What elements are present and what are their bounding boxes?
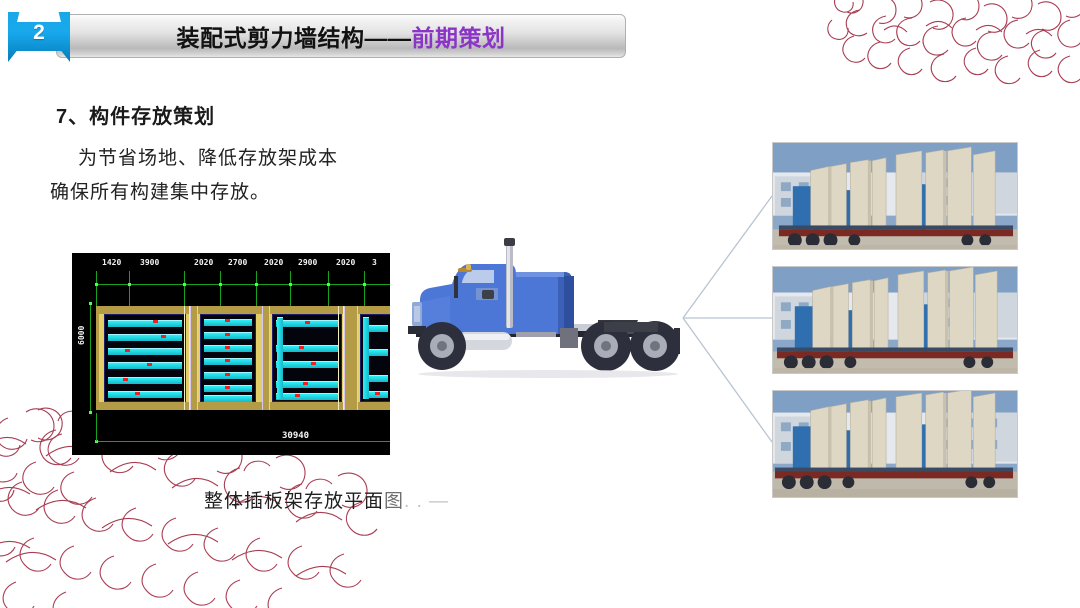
paragraph-line-1: 为节省场地、降低存放架成本 xyxy=(78,148,338,169)
slide-header: 装配式剪力墙结构——前期策划 2 xyxy=(0,14,626,58)
cad-dim-node xyxy=(289,283,292,286)
connector-line-top xyxy=(683,196,772,318)
page-title: 装配式剪力墙结构——前期策划 xyxy=(56,14,626,58)
cad-storage-bay xyxy=(360,314,390,402)
cad-rack xyxy=(108,391,182,398)
cad-marker xyxy=(305,321,310,324)
cad-total-dimension: 30940 xyxy=(282,431,309,441)
figure-caption-fade: 图 xyxy=(384,491,404,512)
cad-rack-vertical xyxy=(277,317,283,399)
cad-dim-label: 2700 xyxy=(228,258,247,267)
cad-dim-node xyxy=(95,283,98,286)
cad-rack xyxy=(108,348,182,355)
content-heading: 7、构件存放策划 xyxy=(56,100,215,129)
cad-dim-node xyxy=(219,283,222,286)
paragraph-line-2: 确保所有构建集中存放。 xyxy=(50,182,270,203)
cad-dim-label: 2020 xyxy=(194,258,213,267)
cad-top-dimension-row: 1420 3900 2020 2700 2020 2900 2020 3 xyxy=(72,253,390,287)
cad-marker xyxy=(147,363,152,366)
cad-vert-dim-line xyxy=(90,303,91,413)
figure-caption: 整体插板架存放平面图. . — xyxy=(204,486,449,513)
cad-rack xyxy=(108,320,182,327)
cad-ext-line xyxy=(220,271,221,307)
cad-rack xyxy=(204,395,252,402)
cad-dim-line xyxy=(96,284,390,285)
cad-rack xyxy=(276,345,338,352)
cad-dim-node xyxy=(183,283,186,286)
cad-marker xyxy=(311,362,316,365)
figure-caption-text: 整体插板架存放平面 xyxy=(204,491,384,512)
semi-truck-tractor-illustration xyxy=(398,228,688,383)
cad-rack xyxy=(276,393,338,400)
cad-marker xyxy=(225,346,230,349)
cad-column xyxy=(344,306,358,410)
cad-ext-line xyxy=(96,413,97,441)
cad-marker xyxy=(225,333,230,336)
cloud-decoration-top-right xyxy=(826,0,1080,140)
cad-column-edge xyxy=(338,306,344,410)
photo-precast-panels-3 xyxy=(772,390,1018,498)
cad-ext-line xyxy=(256,271,257,307)
cad-ext-line xyxy=(184,271,185,307)
cad-dim-node xyxy=(255,283,258,286)
cad-storage-bay xyxy=(104,314,186,402)
cad-rack xyxy=(108,334,182,341)
cad-marker xyxy=(299,346,304,349)
cad-marker xyxy=(225,386,230,389)
cad-dim-node xyxy=(327,283,330,286)
cad-dim-label: 2900 xyxy=(298,258,317,267)
section-badge-number: 2 xyxy=(8,12,70,62)
cad-vertical-dimension: 6000 xyxy=(77,326,86,345)
cad-floor-plan-image: 1420 3900 2020 2700 2020 2900 2020 3 600… xyxy=(72,253,390,455)
cad-dim-node xyxy=(89,411,92,414)
page-title-accent: 前期策划 xyxy=(412,19,506,53)
cad-dim-label: 2020 xyxy=(336,258,355,267)
cad-rack xyxy=(108,377,182,384)
cad-column xyxy=(190,306,198,410)
connector-line-bottom xyxy=(683,318,772,442)
cad-column xyxy=(262,306,270,410)
photo-precast-panels-1 xyxy=(772,142,1018,250)
cad-storage-bay xyxy=(272,314,342,402)
cad-ext-line xyxy=(129,271,130,307)
cad-storage-bay xyxy=(200,314,256,402)
cad-rack-vertical xyxy=(363,317,369,399)
cad-marker xyxy=(375,392,380,395)
cad-marker xyxy=(225,373,230,376)
cad-ext-line xyxy=(96,271,97,307)
cad-column-edge xyxy=(184,306,190,410)
cad-dim-node xyxy=(89,302,92,305)
cad-marker xyxy=(225,319,230,322)
cad-dim-label: 2020 xyxy=(264,258,283,267)
cad-ext-line xyxy=(290,271,291,307)
page-title-main: 装配式剪力墙结构—— xyxy=(177,19,412,53)
content-paragraph: 为节省场地、降低存放架成本 确保所有构建集中存放。 xyxy=(50,142,410,210)
slide-canvas: 装配式剪力墙结构——前期策划 2 7、构件存放策划 为节省场地、降低存放架成本 … xyxy=(0,0,1080,608)
cad-marker xyxy=(225,359,230,362)
cad-dim-label: 3900 xyxy=(140,258,159,267)
cad-ext-line xyxy=(364,271,365,307)
cad-marker xyxy=(161,335,166,338)
cad-dim-node xyxy=(128,283,131,286)
cad-dim-label: 1420 xyxy=(102,258,121,267)
cad-marker xyxy=(123,378,128,381)
figure-caption-tail: . . — xyxy=(404,491,449,512)
cad-marker xyxy=(135,392,140,395)
cad-marker xyxy=(125,349,130,352)
cad-total-dim-line xyxy=(96,441,390,442)
cad-dim-node xyxy=(363,283,366,286)
cad-dim-label: 3 xyxy=(372,258,377,267)
cad-marker xyxy=(303,382,308,385)
photo-precast-panels-2 xyxy=(772,266,1018,374)
cad-marker xyxy=(295,394,300,397)
cad-marker xyxy=(153,320,158,323)
cad-rack xyxy=(108,362,182,369)
cad-rack xyxy=(276,361,338,368)
cad-ext-line xyxy=(328,271,329,307)
